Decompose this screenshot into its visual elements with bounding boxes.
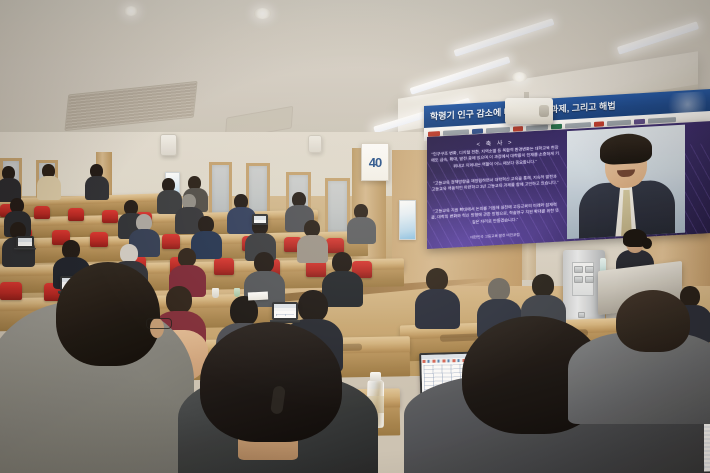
sponsor-logo (594, 121, 604, 127)
av-button (574, 266, 583, 273)
cup (234, 288, 240, 297)
av-button (585, 276, 594, 283)
person-head (426, 268, 448, 291)
speaker-photo-hair (600, 132, 652, 165)
wall-poster-blue (399, 200, 416, 240)
sponsor-logo (634, 119, 645, 125)
downlight (254, 8, 271, 19)
wall-speaker (160, 134, 177, 156)
laptop-screen (272, 302, 298, 320)
wall-speaker (308, 135, 322, 153)
chair[interactable] (162, 234, 180, 249)
anniversary-poster: 40 (361, 143, 389, 181)
led-strip (617, 21, 699, 55)
chair[interactable] (90, 232, 108, 247)
person-torso (37, 176, 61, 200)
person-head (166, 286, 192, 314)
projector-lens-icon (539, 105, 549, 117)
ac-vent (64, 81, 197, 131)
person-torso (322, 271, 363, 307)
person-head (298, 290, 328, 322)
person-head (332, 252, 352, 273)
lecture-hall-photo: 40 학령기 인구 감소에 따른 대학의 과제, 그리고 해법 < 축 사 > … (0, 0, 710, 473)
laptop-screen-content (254, 216, 266, 223)
laptop-screen (252, 214, 268, 225)
person-head (532, 274, 554, 297)
laptop-screen (16, 236, 34, 248)
presenter-hair-bun (642, 238, 652, 249)
eyeglasses (146, 318, 172, 329)
person-gray-sweater-head (56, 262, 160, 366)
chair[interactable] (102, 210, 118, 223)
window-blind (209, 162, 232, 218)
person-torso (297, 235, 328, 263)
water-bottle-cap (370, 372, 381, 381)
downlight (124, 6, 138, 16)
person-torso (415, 289, 460, 329)
chair[interactable] (34, 206, 50, 219)
projection-screen: < 축 사 > "인구구조 변화, 디지털 전환, 지역소멸 등 복합적 환경변… (427, 121, 710, 249)
chair[interactable] (326, 238, 344, 253)
downlight (512, 72, 527, 82)
projector (505, 98, 553, 124)
person-grey-coat-right-head (616, 290, 690, 352)
person-head (254, 252, 274, 273)
person-torso (347, 217, 376, 244)
person-head (230, 296, 258, 326)
anniversary-logo-text: 40 (369, 155, 381, 170)
laptop-screen-content (18, 238, 32, 246)
chair[interactable] (0, 282, 22, 300)
person-hooded-jacket-head (200, 322, 342, 442)
cup (212, 288, 219, 298)
laptop-grid (276, 314, 294, 316)
person-torso (85, 176, 109, 200)
chair[interactable] (68, 208, 84, 221)
person-head (488, 278, 510, 301)
av-button (578, 312, 585, 318)
av-button (585, 266, 594, 273)
chair[interactable] (214, 258, 234, 275)
speaker-photo (567, 125, 685, 240)
laptop-base (14, 248, 36, 250)
av-button (574, 276, 583, 283)
led-strip (453, 18, 554, 57)
paper-sheet (248, 291, 268, 300)
